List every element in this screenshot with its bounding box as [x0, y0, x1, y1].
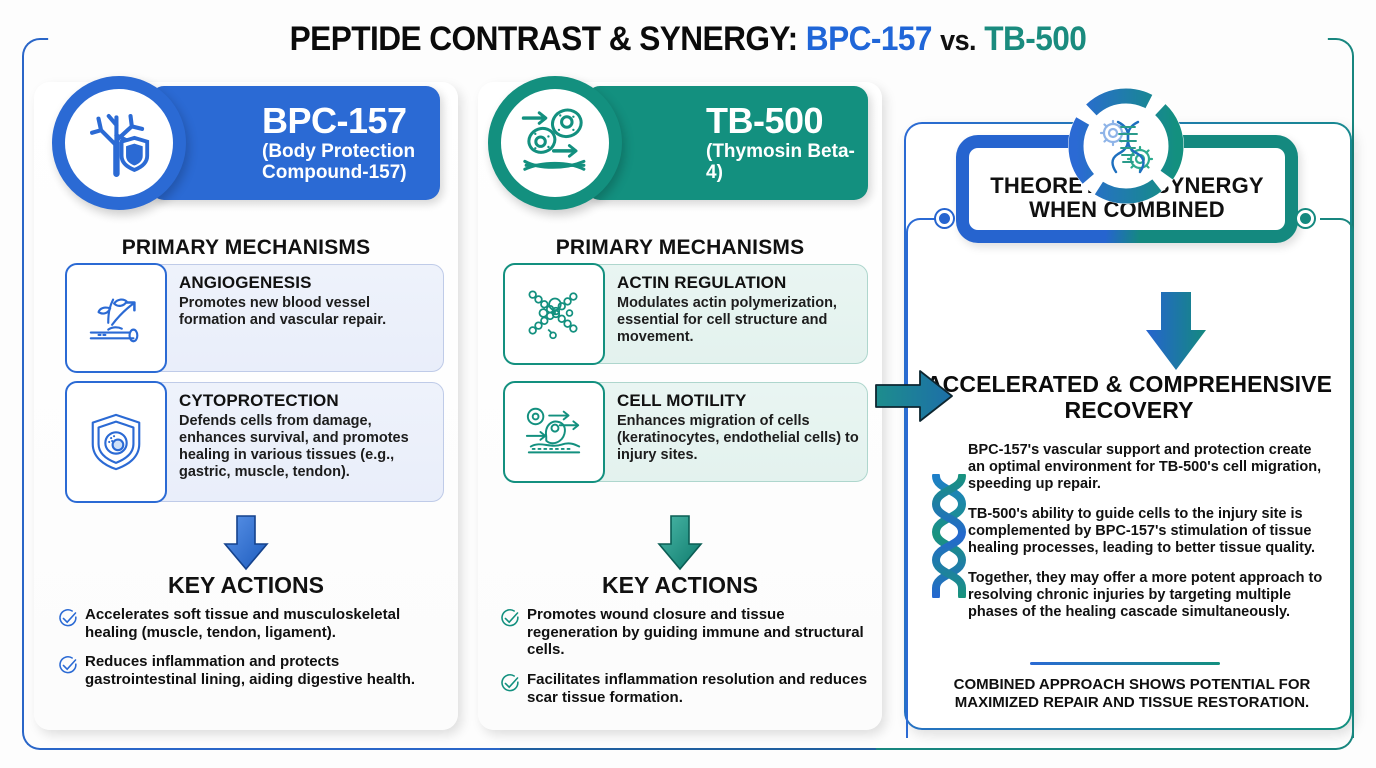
bpc-section-title: PRIMARY MECHANISMS — [34, 236, 458, 260]
bpc-key-action-item: Reduces inflammation and protects gastro… — [58, 653, 446, 688]
synergy-outcome-title: ACCELERATED & COMPREHENSIVE RECOVERY — [920, 372, 1338, 424]
tb-key-action-text: Promotes wound closure and tissue regene… — [527, 606, 870, 659]
synergy-connector-line-left — [906, 218, 940, 738]
synergy-footer: COMBINED APPROACH SHOWS POTENTIAL FOR MA… — [944, 676, 1320, 712]
bpc-down-arrow — [223, 514, 269, 577]
tb-key-action-item: Facilitates inflammation resolution and … — [500, 671, 870, 706]
synergy-bullet: BPC-157's vascular support and protectio… — [968, 442, 1326, 493]
angiogenesis-sprout-vessel-icon — [85, 289, 147, 347]
bpc-full-name: (Body Protection Compound-157) — [262, 141, 440, 184]
bpc-key-action-text: Reduces inflammation and protects gastro… — [85, 653, 446, 688]
tb-abbr: TB-500 — [706, 103, 868, 140]
bpc-mech2-body: CYTOPROTECTION Defends cells from damage… — [167, 383, 443, 501]
column-tb-500: TB-500 (Thymosin Beta-4) — [478, 82, 882, 730]
tb-mechanism-actin: ACTIN REGULATION Modulates actin polymer… — [504, 264, 868, 364]
cell-motility-arrows-icon — [523, 403, 585, 461]
title-vs: vs. — [940, 25, 976, 57]
tb-header-pill: TB-500 (Thymosin Beta-4) — [586, 86, 868, 200]
synergy-connector-line-right — [1320, 218, 1354, 738]
synergy-left-arrow-icon — [874, 368, 954, 424]
tb-key-action-text: Facilitates inflammation resolution and … — [527, 671, 870, 706]
bpc-key-action-item: Accelerates soft tissue and musculoskele… — [58, 606, 446, 641]
bpc-mech1-body: ANGIOGENESIS Promotes new blood vessel f… — [167, 265, 443, 371]
connector-node-left — [936, 210, 953, 227]
connector-node-right — [1297, 210, 1314, 227]
tb-mech1-desc: Modulates actin polymerization, essentia… — [617, 295, 859, 346]
synergy-bullet: Together, they may offer a more potent a… — [968, 570, 1326, 621]
tb-mech2-body: CELL MOTILITY Enhances migration of cell… — [605, 383, 867, 481]
tb-key-actions-list: Promotes wound closure and tissue regene… — [500, 606, 870, 718]
dna-gears-icon — [1094, 114, 1158, 178]
bpc-mech1-icon-box — [65, 263, 167, 373]
check-circle-icon — [58, 653, 85, 688]
tb-mech1-body: ACTIN REGULATION Modulates actin polymer… — [605, 265, 867, 363]
check-circle-icon — [58, 606, 85, 641]
column-bpc-157: BPC-157 (Body Protection Compound-157) P… — [34, 82, 458, 730]
bpc-key-actions-list: Accelerates soft tissue and musculoskele… — [58, 606, 446, 701]
page-title: PEPTIDE CONTRAST & SYNERGY: BPC-157 vs. … — [48, 18, 1328, 63]
infographic-root: PEPTIDE CONTRAST & SYNERGY: BPC-157 vs. … — [0, 0, 1376, 768]
tb-mech2-icon-box — [503, 381, 605, 483]
tb-full-name: (Thymosin Beta-4) — [706, 141, 868, 184]
actin-filament-icon — [523, 284, 585, 344]
bpc-mech1-title: ANGIOGENESIS — [179, 274, 435, 293]
synergy-down-arrow — [1128, 292, 1224, 374]
synergy-badge — [1068, 88, 1184, 204]
tb-key-actions-title: KEY ACTIONS — [478, 572, 882, 599]
bpc-key-action-text: Accelerates soft tissue and musculoskele… — [85, 606, 446, 641]
cytoprotection-shield-cell-icon — [85, 411, 147, 473]
tb-key-action-item: Promotes wound closure and tissue regene… — [500, 606, 870, 659]
tb-section-title: PRIMARY MECHANISMS — [478, 236, 882, 260]
bpc-mech2-desc: Defends cells from damage, enhances surv… — [179, 413, 435, 481]
synergy-bullet: TB-500's ability to guide cells to the i… — [968, 506, 1326, 557]
bpc-header-pill: BPC-157 (Body Protection Compound-157) — [150, 86, 440, 200]
bpc-badge — [52, 76, 186, 210]
check-circle-icon — [500, 671, 527, 706]
tb-down-arrow — [657, 514, 703, 577]
tb-mechanism-motility: CELL MOTILITY Enhances migration of cell… — [504, 382, 868, 482]
migrating-cells-fibers-icon — [513, 101, 597, 185]
tb-mech1-title: ACTIN REGULATION — [617, 274, 859, 293]
vascular-tree-shield-icon — [78, 102, 160, 184]
title-peptide-a: BPC-157 — [806, 20, 932, 58]
frame-bottom-segment — [500, 748, 876, 750]
bpc-mech2-icon-box — [65, 381, 167, 503]
bpc-key-actions-title: KEY ACTIONS — [34, 572, 458, 599]
check-circle-icon — [500, 606, 527, 659]
bpc-mechanism-cytoprotection: CYTOPROTECTION Defends cells from damage… — [66, 382, 444, 502]
tb-mech1-icon-box — [503, 263, 605, 365]
tb-badge — [488, 76, 622, 210]
tb-mech2-title: CELL MOTILITY — [617, 392, 859, 411]
title-peptide-b: TB-500 — [984, 20, 1086, 58]
tb-mech2-desc: Enhances migration of cells (keratinocyt… — [617, 413, 859, 464]
bpc-mech2-title: CYTOPROTECTION — [179, 392, 435, 411]
title-main: PEPTIDE CONTRAST & SYNERGY: — [290, 20, 798, 58]
bpc-abbr: BPC-157 — [262, 103, 440, 140]
bpc-mech1-desc: Promotes new blood vessel formation and … — [179, 295, 435, 329]
bpc-mechanism-angiogenesis: ANGIOGENESIS Promotes new blood vessel f… — [66, 264, 444, 372]
synergy-bullets: BPC-157's vascular support and protectio… — [968, 442, 1326, 634]
synergy-divider — [1030, 662, 1220, 665]
